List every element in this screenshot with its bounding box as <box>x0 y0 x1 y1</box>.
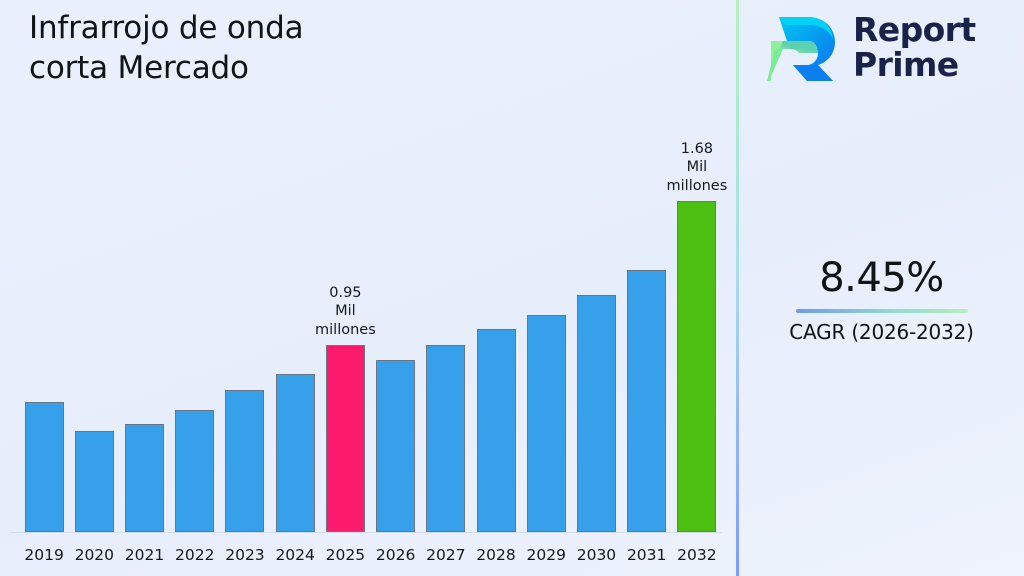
bar-2020[interactable] <box>75 431 114 532</box>
bar-rect-2025[interactable] <box>326 345 365 532</box>
bar-rect-2019[interactable] <box>25 402 64 532</box>
bar-2026[interactable] <box>376 360 415 532</box>
bar-rect-2024[interactable] <box>276 374 315 532</box>
bar-rect-2032[interactable] <box>677 201 716 532</box>
bar-rect-2022[interactable] <box>175 410 214 532</box>
bar-rect-2020[interactable] <box>75 431 114 532</box>
brand-name: Report Prime <box>853 13 976 83</box>
bar-2031[interactable] <box>627 270 666 532</box>
x-axis-line <box>10 532 722 533</box>
bar-rect-2031[interactable] <box>627 270 666 532</box>
brand-logo: Report Prime <box>763 8 976 88</box>
bar-2023[interactable] <box>225 390 264 532</box>
bar-2029[interactable] <box>527 315 566 532</box>
chart-panel: Infrarrojo de onda corta Mercado 2019202… <box>0 0 737 576</box>
bar-value-label-2025: 0.95 Mil millones <box>290 284 400 339</box>
bar-2028[interactable] <box>477 329 516 532</box>
bar-2021[interactable] <box>125 424 164 532</box>
cagr-divider <box>796 309 968 313</box>
cagr-block: 8.45% CAGR (2026-2032) <box>739 256 1024 344</box>
bar-2019[interactable] <box>25 402 64 532</box>
bar-rect-2028[interactable] <box>477 329 516 532</box>
cagr-caption: CAGR (2026-2032) <box>739 320 1024 344</box>
chart-infographic: Infrarrojo de onda corta Mercado 2019202… <box>0 0 1024 576</box>
bar-rect-2021[interactable] <box>125 424 164 532</box>
bar-rect-2029[interactable] <box>527 315 566 532</box>
bar-2030[interactable] <box>577 295 616 532</box>
report-prime-r-logo-icon <box>763 8 841 88</box>
x-tick-2032: 2032 <box>662 546 732 564</box>
summary-panel: Report Prime 8.45% CAGR (2026-2032) <box>739 0 1024 576</box>
bar-rect-2027[interactable] <box>426 345 465 532</box>
bar-2022[interactable] <box>175 410 214 532</box>
bar-2032[interactable]: 1.68 Mil millones <box>677 201 716 532</box>
bar-chart-plot: 2019202020212022202320240.95 Mil millone… <box>0 0 737 576</box>
bar-rect-2026[interactable] <box>376 360 415 532</box>
bar-2025[interactable]: 0.95 Mil millones <box>326 345 365 532</box>
cagr-value: 8.45% <box>739 256 1024 300</box>
bar-rect-2023[interactable] <box>225 390 264 532</box>
bar-2027[interactable] <box>426 345 465 532</box>
bar-rect-2030[interactable] <box>577 295 616 532</box>
bar-2024[interactable] <box>276 374 315 532</box>
